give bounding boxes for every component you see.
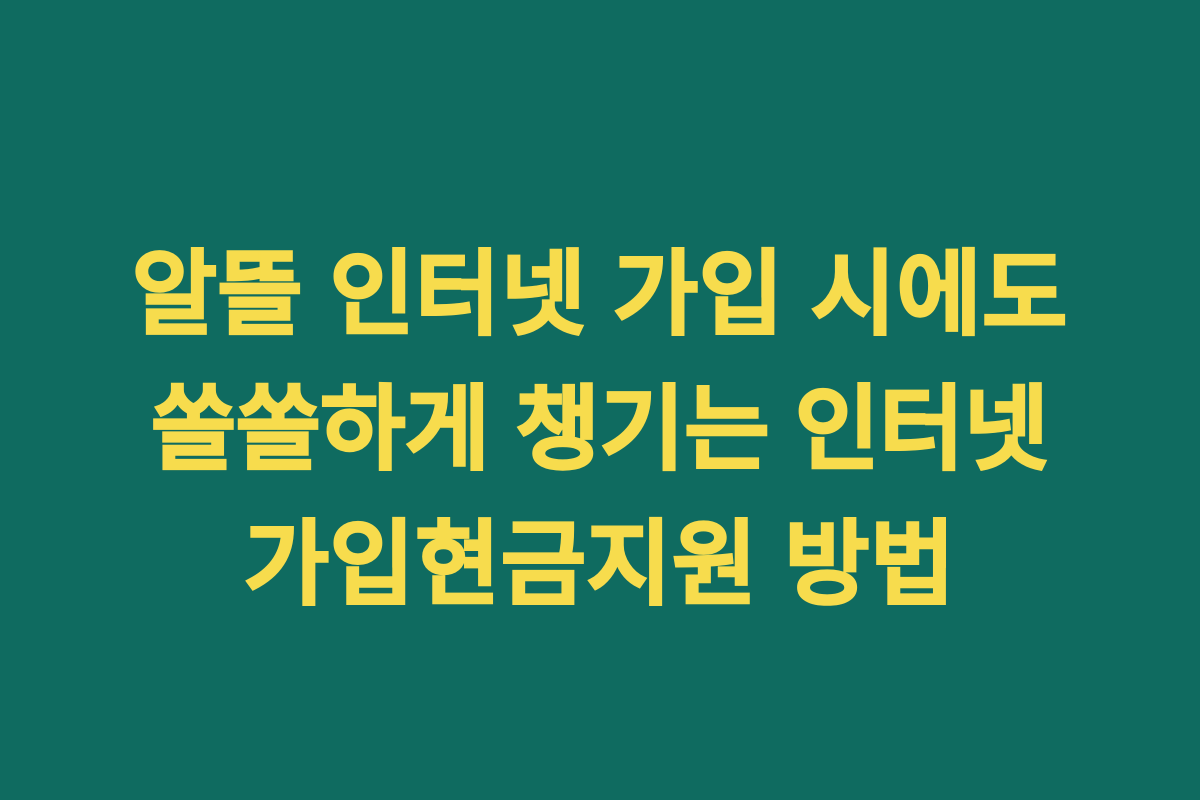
title-line-3: 가입현금지원 방법 <box>30 498 1170 633</box>
thumbnail-card: 알뜰 인터넷 가입 시에도 쏠쏠하게 챙기는 인터넷 가입현금지원 방법 <box>0 0 1200 800</box>
title-line-2: 쏠쏠하게 챙기는 인터넷 <box>30 363 1170 498</box>
title-line-1: 알뜰 인터넷 가입 시에도 <box>30 228 1170 363</box>
title-block: 알뜰 인터넷 가입 시에도 쏠쏠하게 챙기는 인터넷 가입현금지원 방법 <box>0 228 1200 633</box>
